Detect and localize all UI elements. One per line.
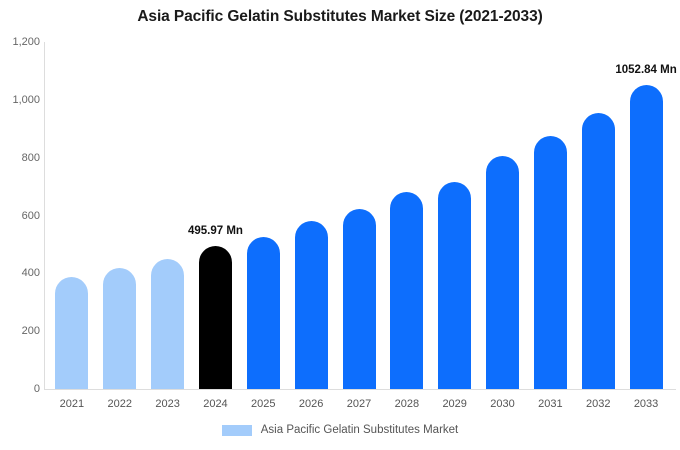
bar-value-label: 495.97 Mn <box>188 225 243 237</box>
bar-chart: Asia Pacific Gelatin Substitutes Market … <box>0 0 680 450</box>
bar-2022[interactable] <box>103 268 136 389</box>
y-axis: 1,2001,0008006004002000 <box>0 0 40 450</box>
bar-slot <box>103 42 136 389</box>
bar-slot <box>151 42 184 389</box>
bar-slot <box>295 42 328 389</box>
bar-2023[interactable] <box>151 259 184 389</box>
bar-slot <box>486 42 519 389</box>
y-axis-tick-label: 1,000 <box>0 94 40 106</box>
bar-2021[interactable] <box>55 277 88 389</box>
bar-slot <box>534 42 567 389</box>
x-axis-tick-label: 2033 <box>616 398 676 410</box>
bar-2026[interactable] <box>295 221 328 389</box>
bar-2031[interactable] <box>534 136 567 389</box>
legend-item-label: Asia Pacific Gelatin Substitutes Market <box>261 424 459 436</box>
y-axis-tick-label: 0 <box>0 383 40 395</box>
bar-2028[interactable] <box>390 192 423 389</box>
legend-swatch-icon <box>222 425 252 436</box>
bar-2030[interactable] <box>486 156 519 389</box>
y-axis-tick-label: 600 <box>0 210 40 222</box>
bar-2025[interactable] <box>247 237 280 389</box>
y-axis-tick-label: 200 <box>0 325 40 337</box>
bar-2032[interactable] <box>582 113 615 389</box>
bar-2027[interactable] <box>343 209 376 389</box>
bar-slot <box>343 42 376 389</box>
bar-slot <box>438 42 471 389</box>
bar-slot <box>630 42 663 389</box>
bar-slot <box>55 42 88 389</box>
bar-2024[interactable] <box>199 246 232 389</box>
bar-slot <box>582 42 615 389</box>
y-axis-tick-label: 800 <box>0 152 40 164</box>
chart-legend[interactable]: Asia Pacific Gelatin Substitutes Market <box>0 424 680 436</box>
y-axis-tick-label: 1,200 <box>0 36 40 48</box>
y-axis-tick-label: 400 <box>0 267 40 279</box>
bar-2033[interactable] <box>630 85 663 389</box>
bar-value-label: 1052.84 Mn <box>615 64 676 76</box>
plot-area <box>44 42 676 389</box>
bar-slot <box>247 42 280 389</box>
bar-slot <box>390 42 423 389</box>
chart-title: Asia Pacific Gelatin Substitutes Market … <box>0 8 680 26</box>
bar-slot <box>199 42 232 389</box>
bar-2029[interactable] <box>438 182 471 389</box>
x-axis-line <box>44 389 676 390</box>
